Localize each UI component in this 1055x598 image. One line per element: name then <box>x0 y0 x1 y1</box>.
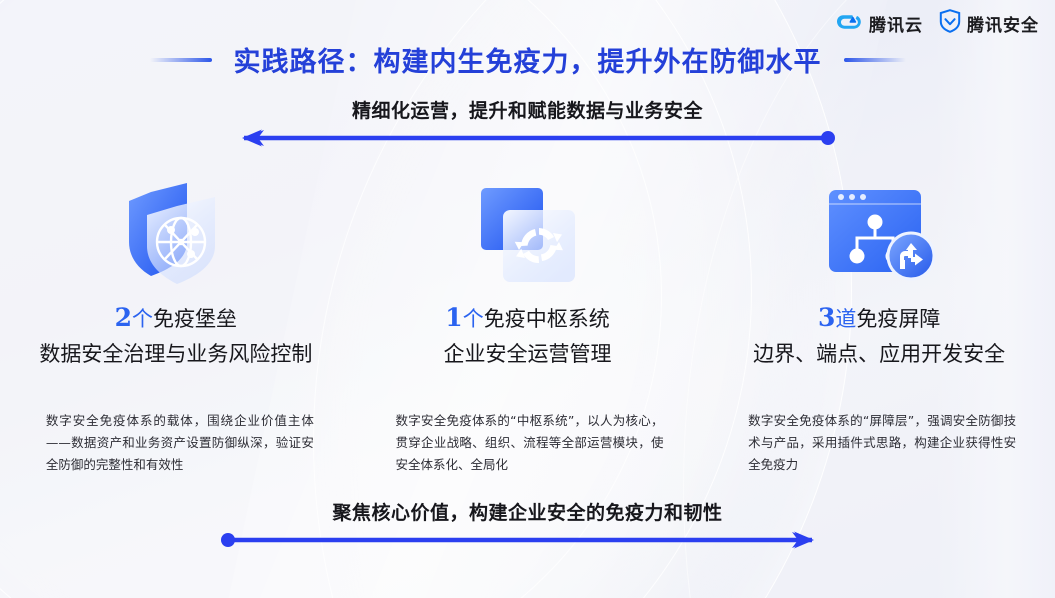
title-rule-right <box>844 58 906 62</box>
refresh-cycle-icon <box>467 180 589 292</box>
pillar-head-rest: 免疫屏障 <box>856 307 940 331</box>
pillar-head-rest: 免疫中枢系统 <box>484 307 610 331</box>
pillar-head-rest: 免疫堡垒 <box>153 307 237 331</box>
tencent-cloud-logo: 腾讯云 <box>837 11 923 36</box>
top-arrow-banner: 精细化运营，提升和赋能数据与业务安全 <box>0 96 1055 147</box>
brand-logos: 腾讯云 腾讯安全 <box>837 9 1039 38</box>
pillar-column: 3道免疫屏障 边界、端点、应用开发安全 数字安全免疫体系的“屏障层”，强调安全防… <box>703 180 1055 476</box>
tencent-security-label: 腾讯安全 <box>967 11 1039 36</box>
tencent-security-logo: 腾讯安全 <box>939 9 1039 38</box>
title-rule-left <box>150 58 212 62</box>
pillar-unit: 个 <box>132 307 153 331</box>
top-arrow-label: 精细化运营，提升和赋能数据与业务安全 <box>0 96 1055 123</box>
pillar-heading: 1个免疫中枢系统 企业安全运营管理 <box>444 302 612 368</box>
bottom-arrow-banner: 聚焦核心价值，构建企业安全的免疫力和韧性 <box>0 498 1055 549</box>
pillar-description: 数字安全免疫体系的载体，围绕企业价值主体——数据资产和业务资产设置防御纵深，验证… <box>46 410 314 476</box>
pillar-column: 1个免疫中枢系统 企业安全运营管理 数字安全免疫体系的“中枢系统”，以人为核心，… <box>352 180 704 476</box>
pillar-subtitle: 数据安全治理与业务风险控制 <box>39 338 312 368</box>
shield-globe-icon <box>115 180 237 292</box>
pillar-heading: 2个免疫堡垒 数据安全治理与业务风险控制 <box>39 302 312 368</box>
pillar-subtitle: 企业安全运营管理 <box>444 338 612 368</box>
bottom-arrow-label: 聚焦核心价值，构建企业安全的免疫力和韧性 <box>0 498 1055 525</box>
pillars-row: 2个免疫堡垒 数据安全治理与业务风险控制 数字安全免疫体系的载体，围绕企业价值主… <box>0 180 1055 476</box>
pillar-subtitle: 边界、端点、应用开发安全 <box>753 338 1005 368</box>
pillar-heading: 3道免疫屏障 边界、端点、应用开发安全 <box>753 302 1005 368</box>
pillar-description: 数字安全免疫体系的“中枢系统”，以人为核心，贯穿企业战略、组织、流程等全部运营模… <box>396 410 664 476</box>
pillar-description: 数字安全免疫体系的“屏障层”，强调安全防御技术与产品，采用插件式思路，构建企业获… <box>748 410 1016 476</box>
page-title-row: 实践路径：构建内生免疫力，提升外在防御水平 <box>0 40 1055 79</box>
pillar-count: 2 <box>115 303 132 332</box>
pillar-column: 2个免疫堡垒 数据安全治理与业务风险控制 数字安全免疫体系的载体，围绕企业价值主… <box>0 180 352 476</box>
left-arrow-icon <box>218 129 838 147</box>
right-arrow-icon <box>218 531 838 549</box>
shield-icon <box>939 9 961 38</box>
window-nodes-icon <box>815 180 943 292</box>
pillar-count: 1 <box>445 303 462 332</box>
page-title: 实践路径：构建内生免疫力，提升外在防御水平 <box>234 40 822 79</box>
tencent-cloud-label: 腾讯云 <box>869 11 923 36</box>
cloud-icon <box>837 11 863 36</box>
slide-canvas: 腾讯云 腾讯安全 实践路径：构建内生免疫力，提升外在防御水平 精细化运营，提升和… <box>0 0 1055 598</box>
pillar-unit: 个 <box>463 307 484 331</box>
pillar-unit: 道 <box>835 307 856 331</box>
pillar-count: 3 <box>818 303 835 332</box>
